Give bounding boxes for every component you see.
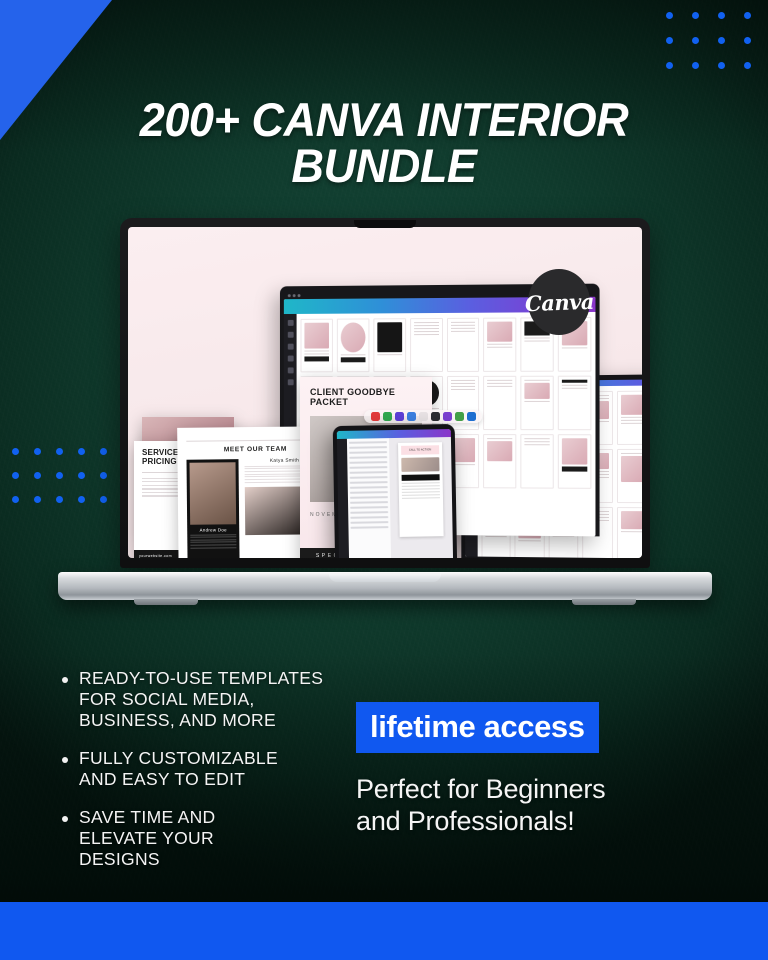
- dock-app-icon: [407, 412, 416, 421]
- packet-card-title: CLIENT GOODBYE PACKET: [310, 387, 422, 407]
- dot: [12, 472, 19, 479]
- template-thumbnail: [558, 376, 591, 431]
- dot: [666, 37, 673, 44]
- template-thumbnail: [616, 507, 642, 558]
- laptop-base: [58, 572, 712, 600]
- dot: [12, 448, 19, 455]
- template-thumbnail: [373, 318, 406, 372]
- dot: [34, 472, 41, 479]
- tablet-mockup: CALL TO ACTION: [333, 424, 458, 558]
- page-heading-band: CALL TO ACTION: [401, 445, 439, 455]
- rail-icon: [287, 356, 293, 362]
- template-thumbnail: [446, 318, 479, 372]
- tablet-screen: CALL TO ACTION: [337, 429, 453, 558]
- team-member-name: Andrew Doe: [190, 527, 236, 532]
- rail-icon: [287, 379, 293, 385]
- laptop-foot-right: [572, 599, 636, 605]
- laptop-screen: Canva: [128, 227, 642, 558]
- list-item: SAVE TIME AND ELEVATE YOUR DESIGNS: [62, 807, 362, 870]
- dock-app-icon: [371, 412, 380, 421]
- template-thumbnail: [483, 318, 516, 372]
- app-dock: [364, 410, 482, 423]
- dot: [692, 12, 699, 19]
- template-thumbnail: [521, 434, 554, 488]
- team-member-photo: [190, 462, 237, 524]
- template-thumbnail: [616, 449, 642, 503]
- page-heading-text: CALL TO ACTION: [409, 448, 431, 451]
- guide-footer-text: yourwebsite.com: [139, 554, 172, 558]
- template-thumbnail: [483, 434, 516, 488]
- dot-grid-top-right: [656, 12, 760, 87]
- dock-app-icon: [467, 412, 476, 421]
- dock-app-icon: [419, 412, 428, 421]
- lifetime-access-badge: lifetime access: [356, 702, 599, 753]
- window-maximize-icon: [298, 294, 301, 297]
- dot: [744, 62, 751, 69]
- dot: [744, 37, 751, 44]
- template-thumbnail: [410, 318, 443, 372]
- rail-icon: [287, 320, 293, 326]
- rail-icon: [287, 344, 293, 350]
- laptop-mockup: Canva: [58, 218, 712, 610]
- tablet-workspace: CALL TO ACTION: [337, 437, 453, 558]
- team-member-bio: [190, 534, 236, 548]
- team-member-left: Andrew Doe: [186, 459, 239, 558]
- bullet-icon: [62, 677, 68, 683]
- dock-app-icon: [383, 412, 392, 421]
- tablet-panel-list: [347, 438, 391, 558]
- canva-logo-badge: Canva: [528, 269, 590, 335]
- cta-subtitle: Perfect for Beginners and Professionals!: [356, 774, 716, 837]
- dot: [34, 448, 41, 455]
- template-thumbnail: [301, 319, 333, 373]
- rail-icon: [287, 332, 293, 338]
- dot: [34, 496, 41, 503]
- tablet-canvas: CALL TO ACTION: [389, 437, 453, 558]
- bullet-icon: [62, 816, 68, 822]
- laptop-lid: Canva: [120, 218, 650, 568]
- template-thumbnail: [558, 434, 591, 489]
- template-thumbnail: [483, 376, 516, 430]
- lifetime-access-label: lifetime access: [370, 709, 585, 744]
- dot: [718, 37, 725, 44]
- window-close-icon: [288, 294, 291, 297]
- dot: [692, 37, 699, 44]
- design-page: CALL TO ACTION: [398, 442, 444, 537]
- list-item: FULLY CUSTOMIZABLE AND EASY TO EDIT: [62, 748, 362, 790]
- template-thumbnail: [521, 376, 554, 430]
- dot: [744, 12, 751, 19]
- dot: [718, 62, 725, 69]
- template-thumbnail: [616, 391, 642, 445]
- dock-app-icon: [455, 412, 464, 421]
- dock-app-icon: [443, 412, 452, 421]
- bullet-icon: [62, 757, 68, 763]
- benefits-list: READY-TO-USE TEMPLATES FOR SOCIAL MEDIA,…: [62, 668, 362, 887]
- webcam-notch: [354, 220, 416, 228]
- canva-logo-text: Canva: [524, 288, 594, 315]
- benefit-label: READY-TO-USE TEMPLATES FOR SOCIAL MEDIA,…: [79, 668, 323, 731]
- laptop-foot-left: [134, 599, 198, 605]
- dot: [692, 62, 699, 69]
- dot: [12, 496, 19, 503]
- benefit-label: FULLY CUSTOMIZABLE AND EASY TO EDIT: [79, 748, 278, 790]
- bottom-accent-bar: [0, 902, 768, 960]
- dock-app-icon: [431, 412, 440, 421]
- template-thumbnail: [337, 318, 369, 372]
- poster-canvas: 200+ CANVA INTERIOR BUNDLE Canva: [0, 0, 768, 960]
- window-minimize-icon: [293, 294, 296, 297]
- rail-icon: [287, 367, 293, 373]
- page-image: [401, 457, 439, 472]
- dot: [718, 12, 725, 19]
- dock-app-icon: [395, 412, 404, 421]
- page-title: 200+ CANVA INTERIOR BUNDLE: [73, 97, 695, 189]
- list-item: READY-TO-USE TEMPLATES FOR SOCIAL MEDIA,…: [62, 668, 362, 731]
- benefit-label: SAVE TIME AND ELEVATE YOUR DESIGNS: [79, 807, 215, 870]
- dot: [666, 12, 673, 19]
- laptop-base-notch: [329, 574, 441, 582]
- cta-block: lifetime access Perfect for Beginners an…: [356, 702, 716, 837]
- page-cta-button: [402, 474, 440, 481]
- dot: [666, 62, 673, 69]
